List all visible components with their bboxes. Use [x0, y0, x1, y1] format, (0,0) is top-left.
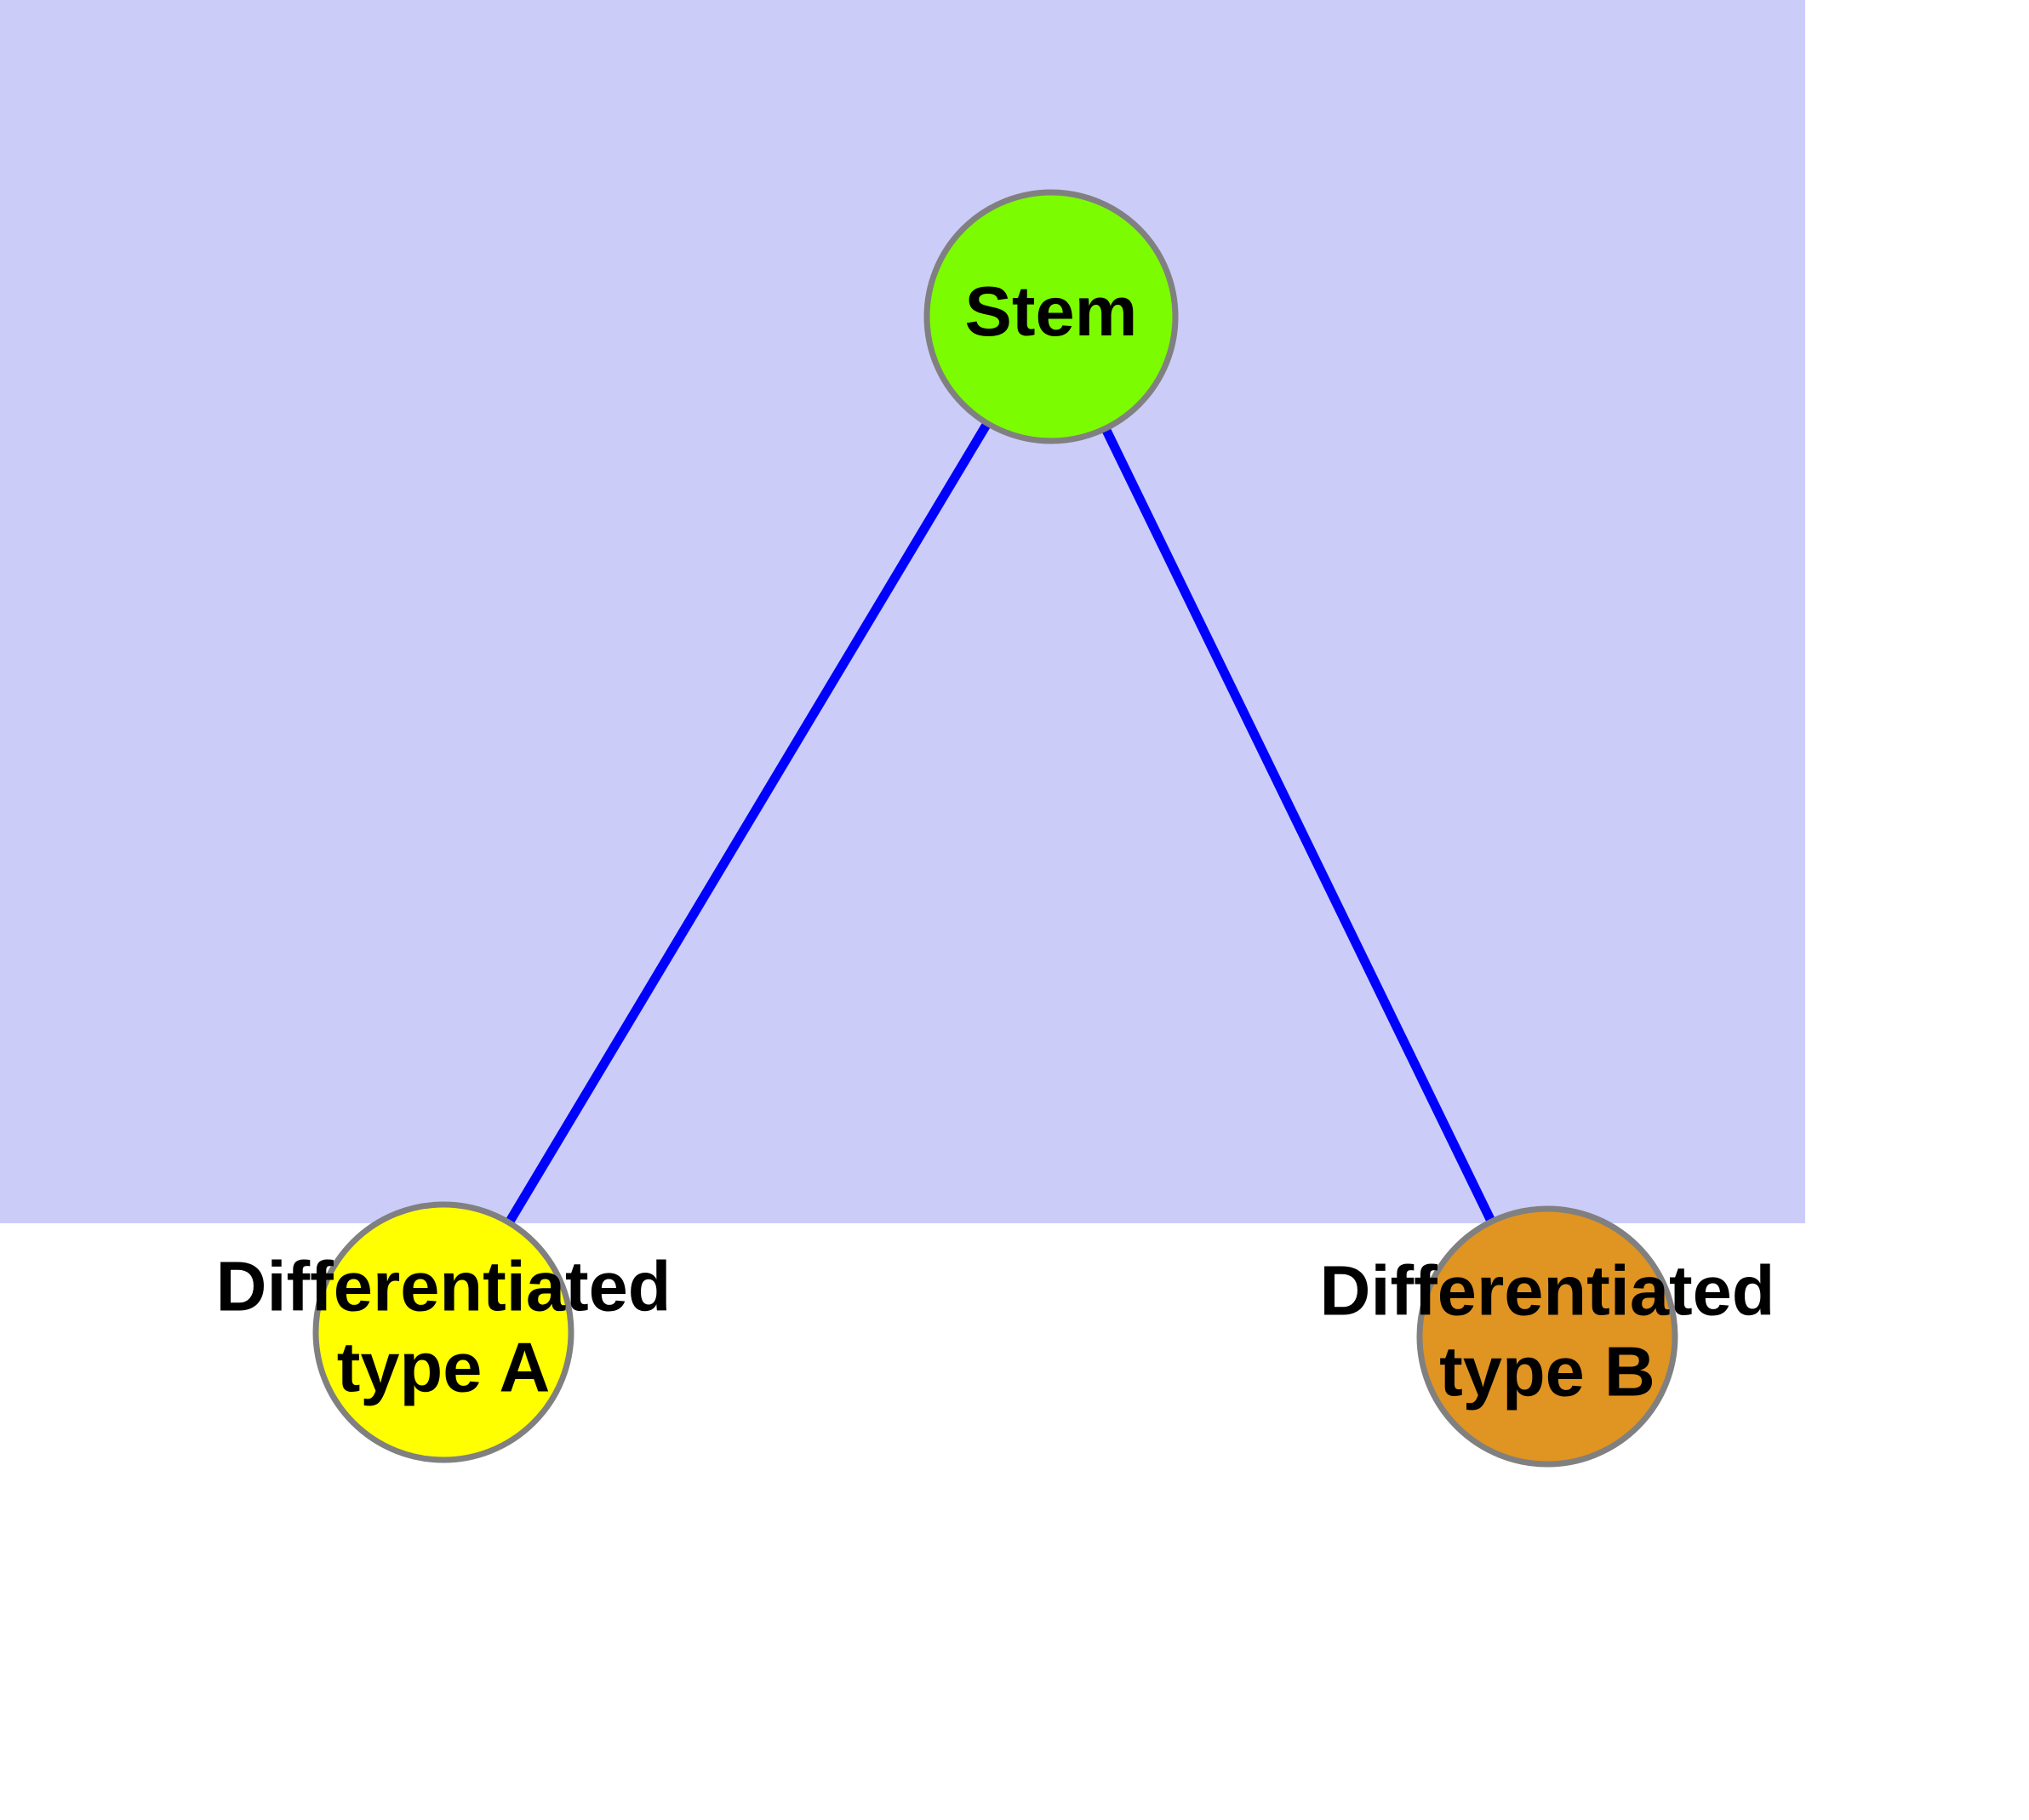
- edge-layer: [443, 317, 1547, 1336]
- edge-stem-diff-b[interactable]: [1051, 317, 1547, 1336]
- node-stem-label: Stem: [965, 272, 1138, 351]
- node-diff-b-label-line-1: Differentiated: [1320, 1251, 1775, 1331]
- node-stem-label-line-1: Stem: [965, 272, 1138, 351]
- diagram-graph: Stem Differentiatedtype A Differentiated…: [0, 0, 2029, 1820]
- node-diff-b-label-line-2: type B: [1439, 1331, 1655, 1411]
- node-diff-b-label: Differentiatedtype B: [1320, 1251, 1775, 1411]
- node-diff-a-label-line-2: type A: [337, 1327, 551, 1406]
- node-diff-a-label: Differentiatedtype A: [216, 1247, 672, 1407]
- edge-stem-diff-a[interactable]: [443, 317, 1051, 1332]
- node-diff-a-label-line-1: Differentiated: [216, 1247, 672, 1326]
- figure-canvas: Stem Differentiatedtype A Differentiated…: [0, 0, 2029, 1820]
